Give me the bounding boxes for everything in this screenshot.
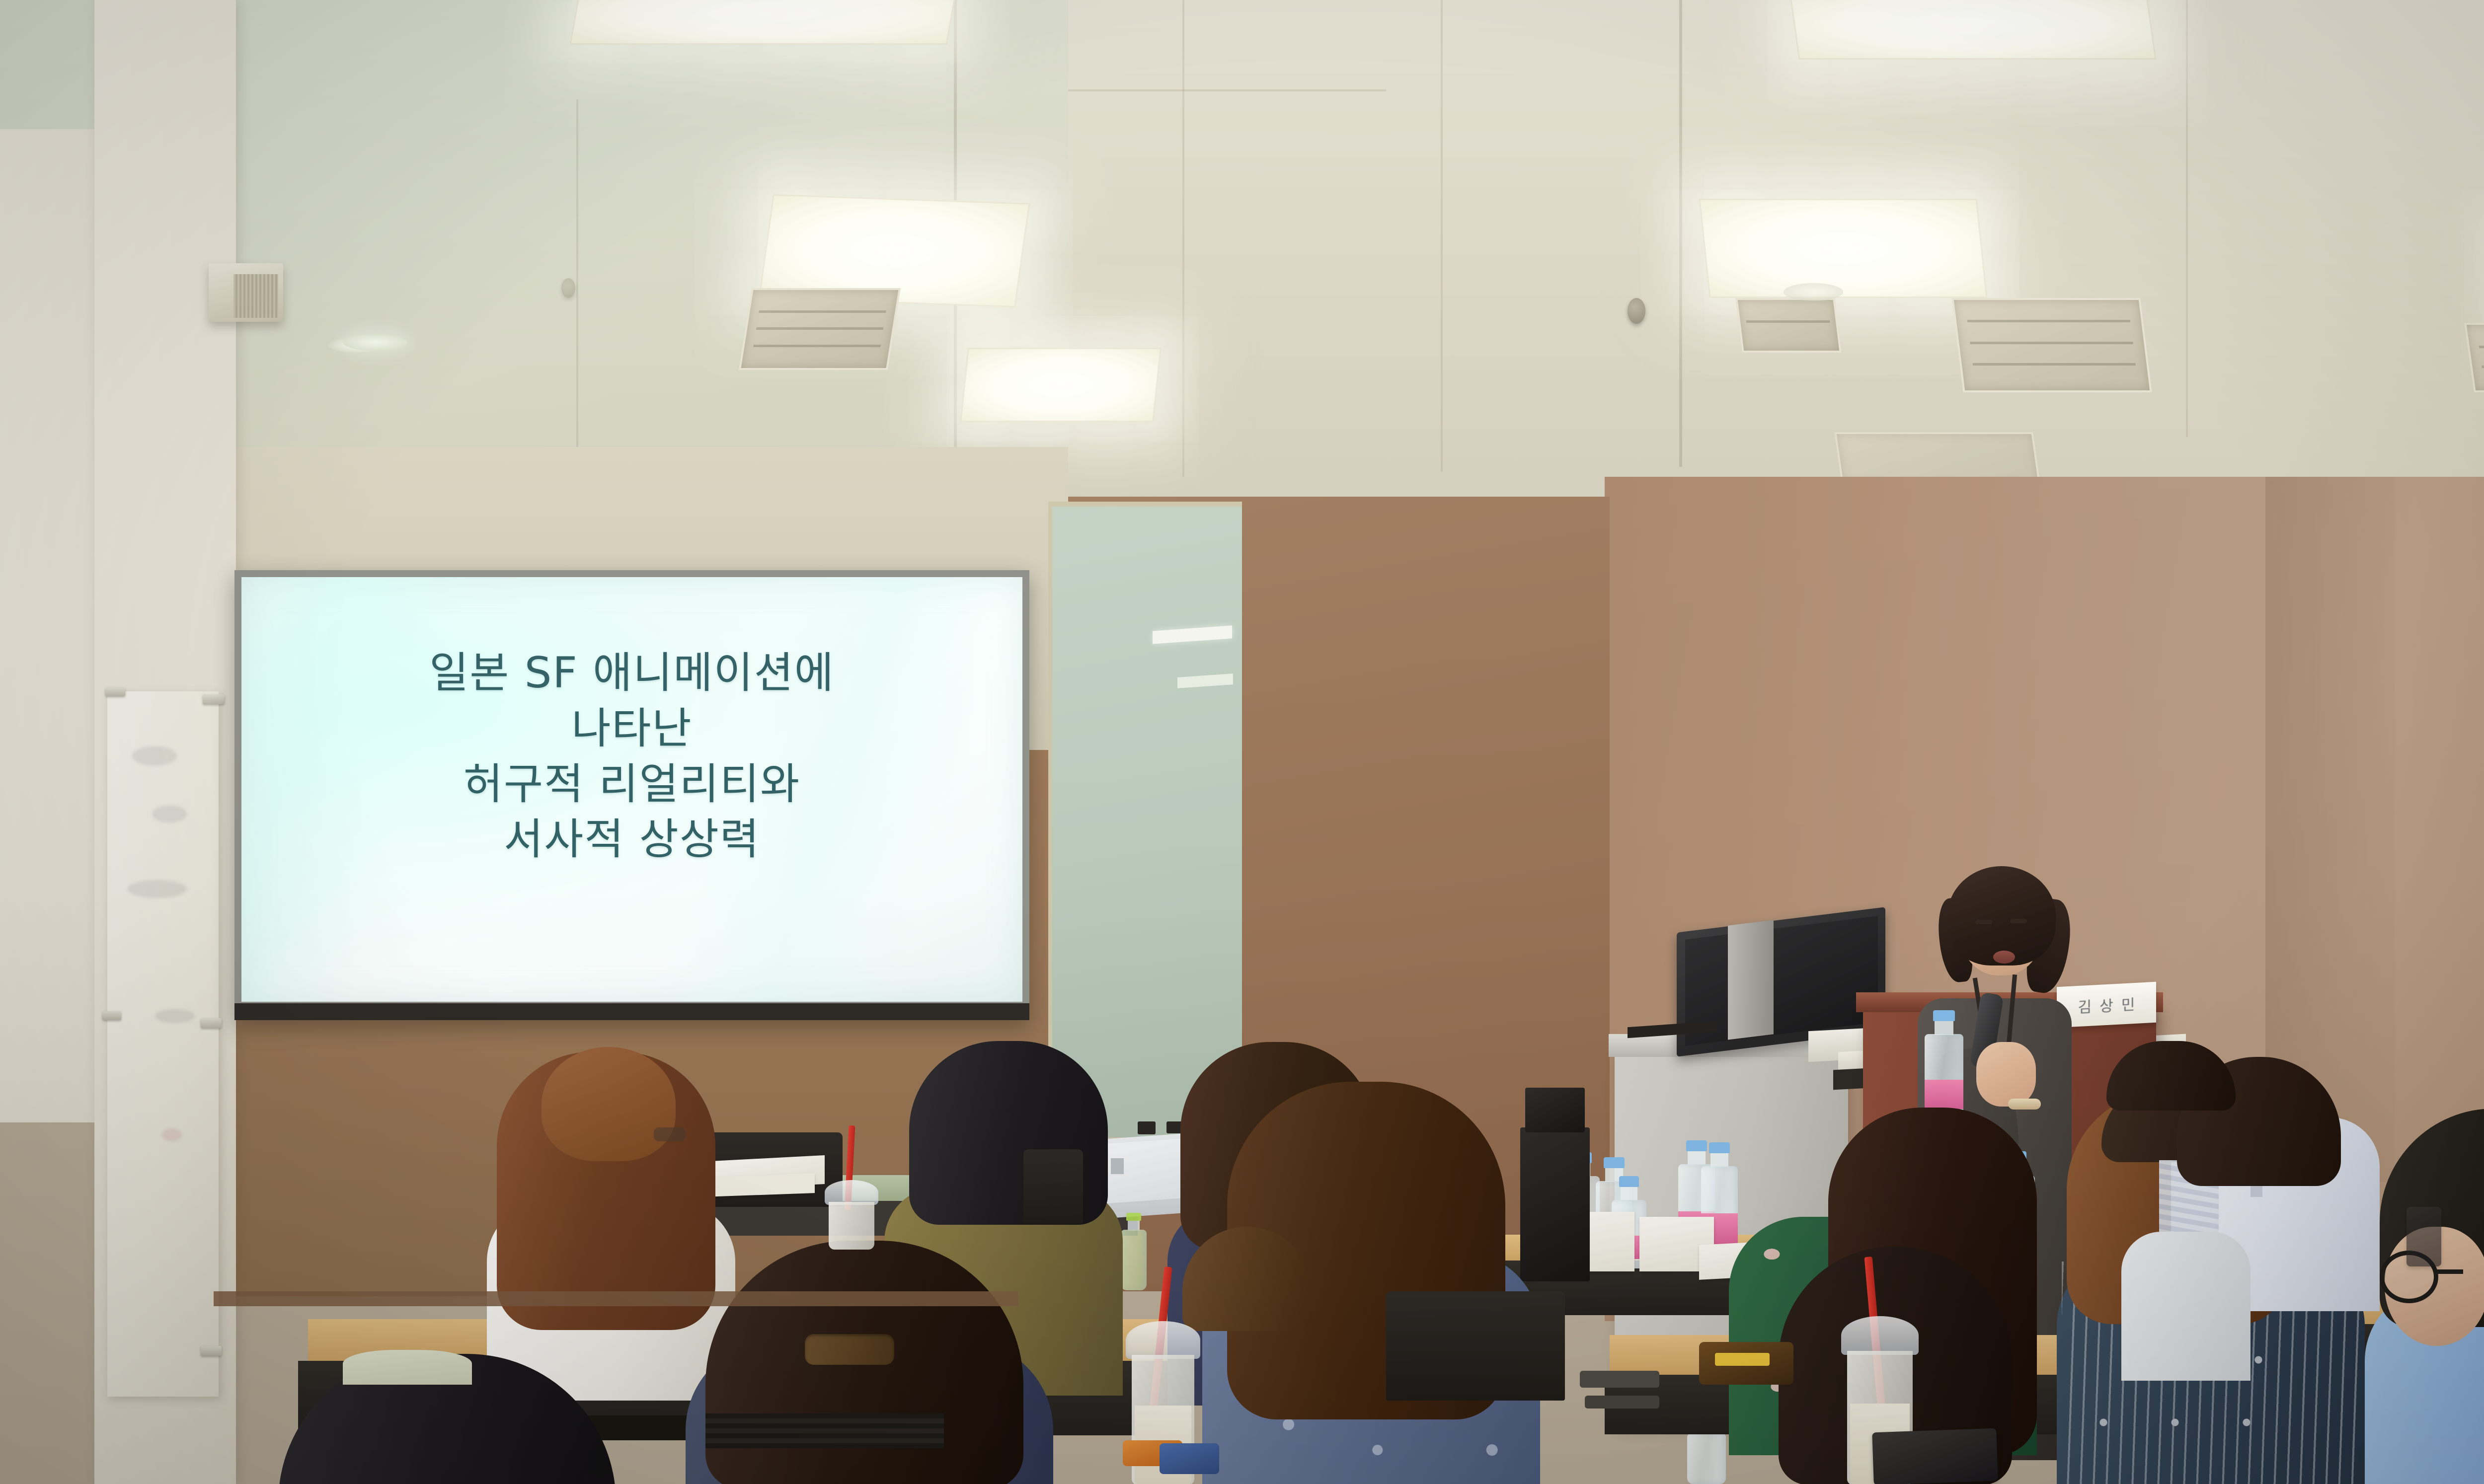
speaker-bracelet (2008, 1099, 2041, 1110)
ceiling-downlight (343, 334, 407, 351)
slide-line-3: 허구적 리얼리티와 (241, 757, 1022, 813)
speaker-eye-left (1975, 920, 1992, 924)
hair-clip (805, 1334, 894, 1365)
laptop-screen-glyph (1111, 1158, 1124, 1174)
floor-speaker-top (1525, 1088, 1585, 1132)
name-card-char-1: 김 (2078, 995, 2092, 1017)
screen-bottom-bar (234, 1003, 1029, 1020)
audience-head (542, 1047, 676, 1161)
lecture-hall-photo: 일본 SF 애니메이션에 나타난 허구적 리얼리티와 서사적 상상력 김 상 민 (0, 0, 2484, 1484)
wall-skirting (214, 1291, 1018, 1306)
monitor-arm (1728, 920, 1774, 1039)
ceiling-smoke-detector (1784, 283, 1843, 301)
ceiling-air-vent (1951, 298, 2152, 392)
light-collar (343, 1350, 472, 1385)
pencil-case-stripe (1715, 1353, 1770, 1366)
whiteboard-clip (203, 694, 225, 704)
desk-shelf-slats (705, 1413, 944, 1448)
speaker-mouth (1993, 951, 2015, 964)
smartphone[interactable] (2406, 1207, 2441, 1266)
whiteboard-clip (105, 687, 125, 696)
name-card-char-3: 민 (2121, 992, 2135, 1015)
water-bottle-green-cap[interactable] (1121, 1213, 1147, 1290)
ceiling-light-panel (570, 0, 959, 45)
eyeglasses (654, 1127, 686, 1141)
floor-speaker (1520, 1127, 1590, 1281)
iced-drink-cup-small[interactable] (825, 1180, 878, 1250)
ceiling-panel-line (2186, 0, 2188, 437)
sprinkler-head (1628, 298, 1645, 324)
chair-arm (1585, 1396, 1659, 1409)
sprinkler-head (561, 278, 575, 298)
chair-arm (1580, 1371, 1659, 1388)
chalkboard-panel (1048, 502, 1242, 1152)
ceiling-panel-line (1182, 0, 1184, 477)
slide-line-1: 일본 SF 애니메이션에 (241, 646, 1022, 701)
eraser (1138, 1121, 1156, 1134)
ceiling-air-vent (1735, 298, 1842, 353)
ceiling-light-panel (1788, 0, 2156, 60)
ceiling-panel-line (576, 99, 578, 507)
ceiling-seam (1679, 0, 1682, 467)
chair[interactable] (1023, 1149, 1083, 1224)
water-bottle[interactable] (1925, 1010, 1963, 1121)
ceiling-panel-line (1441, 0, 1443, 472)
slide-title-text: 일본 SF 애니메이션에 나타난 허구적 리얼리티와 서사적 상상력 (241, 646, 1022, 868)
name-card-char-2: 상 (2099, 993, 2113, 1016)
eyeglasses-bridge (2436, 1269, 2463, 1274)
papers-on-desk (705, 1173, 815, 1197)
smartphone[interactable] (1872, 1428, 1998, 1484)
speaker-hand (1976, 1042, 2036, 1107)
wall-speaker-grill (233, 274, 278, 318)
whiteboard-clip (102, 1011, 121, 1020)
whiteboard-clip (201, 1018, 222, 1028)
blue-item (1160, 1443, 1219, 1474)
speaker-eye-right (2010, 919, 2027, 923)
slide-line-2: 나타난 (241, 701, 1022, 757)
speaker-name-card: 김 상 민 (2057, 982, 2156, 1028)
whiteboard-clip (201, 1346, 222, 1356)
slide-line-4: 서사적 상상력 (241, 812, 1022, 868)
chair[interactable] (1386, 1291, 1565, 1401)
whiteboard-panel[interactable] (107, 691, 219, 1397)
audience-torso-striped (2121, 1232, 2251, 1381)
ceiling-light-panel (960, 348, 1162, 422)
ceiling-panel-line (1068, 89, 1386, 91)
ceiling-light-panel (1699, 199, 1987, 298)
ceiling-air-vent (739, 288, 901, 370)
